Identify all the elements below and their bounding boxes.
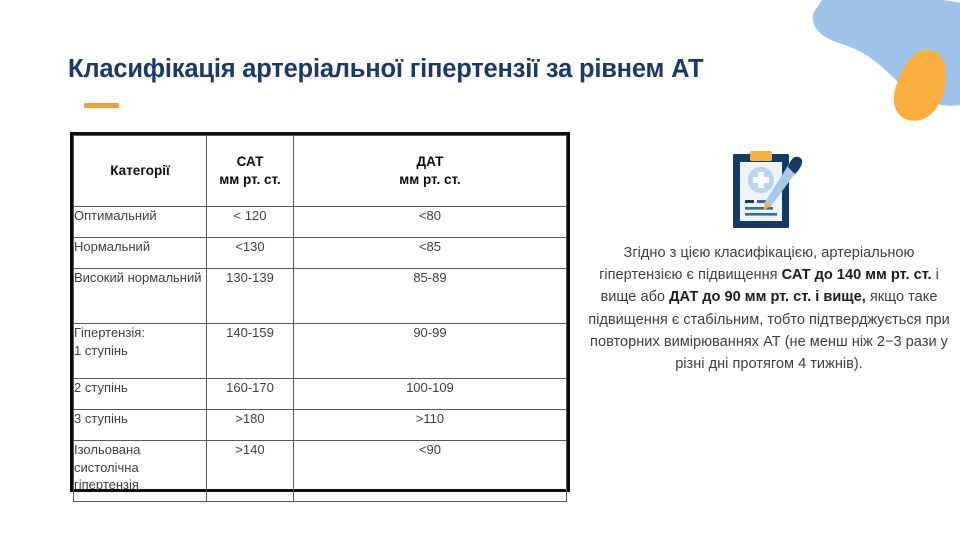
table-row: 2 ступінь 160-170 100-109 <box>74 379 567 410</box>
cell-category: Гіпертензія:1 ступінь <box>74 324 207 379</box>
cell-sat: < 120 <box>207 207 294 238</box>
table-body: Оптимальний < 120 <80 Нормальний <130 <8… <box>74 207 567 502</box>
explanatory-paragraph: Згідно з цією класифікацією, артеріально… <box>580 242 958 375</box>
table-row: 3 ступінь >180 >110 <box>74 410 567 441</box>
cell-category: Оптимальний <box>74 207 207 238</box>
medical-clipboard-icon <box>580 150 958 234</box>
blood-pressure-classification-table: Категорії САТ мм рт. ст. ДАТ мм рт. ст. … <box>70 132 570 492</box>
blue-blob-shape <box>813 0 960 106</box>
cell-sat: 140-159 <box>207 324 294 379</box>
cell-category: Нормальний <box>74 238 207 269</box>
clipboard-clip <box>750 151 772 161</box>
cell-dat: 100-109 <box>293 379 566 410</box>
table-row: Високий нормальний 130-139 85-89 <box>74 269 567 324</box>
cell-sat: <130 <box>207 238 294 269</box>
cell-category: Ізольована систолічна гіпертензія <box>74 441 207 502</box>
cell-category: 2 ступінь <box>74 379 207 410</box>
cell-dat: <90 <box>293 441 566 502</box>
column-header-category: Категорії <box>74 136 207 207</box>
cell-dat: <85 <box>293 238 566 269</box>
paragraph-segment-bold: ДАТ до 90 мм рт. ст. і вище, <box>669 289 866 305</box>
column-header-dat: ДАТ мм рт. ст. <box>293 136 566 207</box>
cell-dat: >110 <box>293 410 566 441</box>
cell-category: 3 ступінь <box>74 410 207 441</box>
table-row: Нормальний <130 <85 <box>74 238 567 269</box>
page-line <box>745 207 773 210</box>
decorative-blobs <box>780 0 960 140</box>
page-line <box>745 213 777 216</box>
cell-sat: >180 <box>207 410 294 441</box>
orange-teardrop-shape <box>894 50 946 121</box>
cell-category: Високий нормальний <box>74 269 207 324</box>
cell-sat: >140 <box>207 441 294 502</box>
table-row: Гіпертензія:1 ступінь 140-159 90-99 <box>74 324 567 379</box>
page-line <box>745 200 754 203</box>
cell-sat: 130-139 <box>207 269 294 324</box>
column-header-sat: САТ мм рт. ст. <box>207 136 294 207</box>
side-panel: Згідно з цією класифікацією, артеріально… <box>580 150 958 375</box>
table-row: Оптимальний < 120 <80 <box>74 207 567 238</box>
table-row: Ізольована систолічна гіпертензія >140 <… <box>74 441 567 502</box>
page-title: Класифікація артеріальної гіпертензії за… <box>68 55 703 84</box>
title-underline-rule <box>84 103 119 108</box>
cell-dat: 85-89 <box>293 269 566 324</box>
cell-dat: <80 <box>293 207 566 238</box>
table-header-row: Категорії САТ мм рт. ст. ДАТ мм рт. ст. <box>74 136 567 207</box>
paragraph-segment-bold: САТ до 140 мм рт. ст. <box>782 267 932 283</box>
cell-sat: 160-170 <box>207 379 294 410</box>
cell-dat: 90-99 <box>293 324 566 379</box>
